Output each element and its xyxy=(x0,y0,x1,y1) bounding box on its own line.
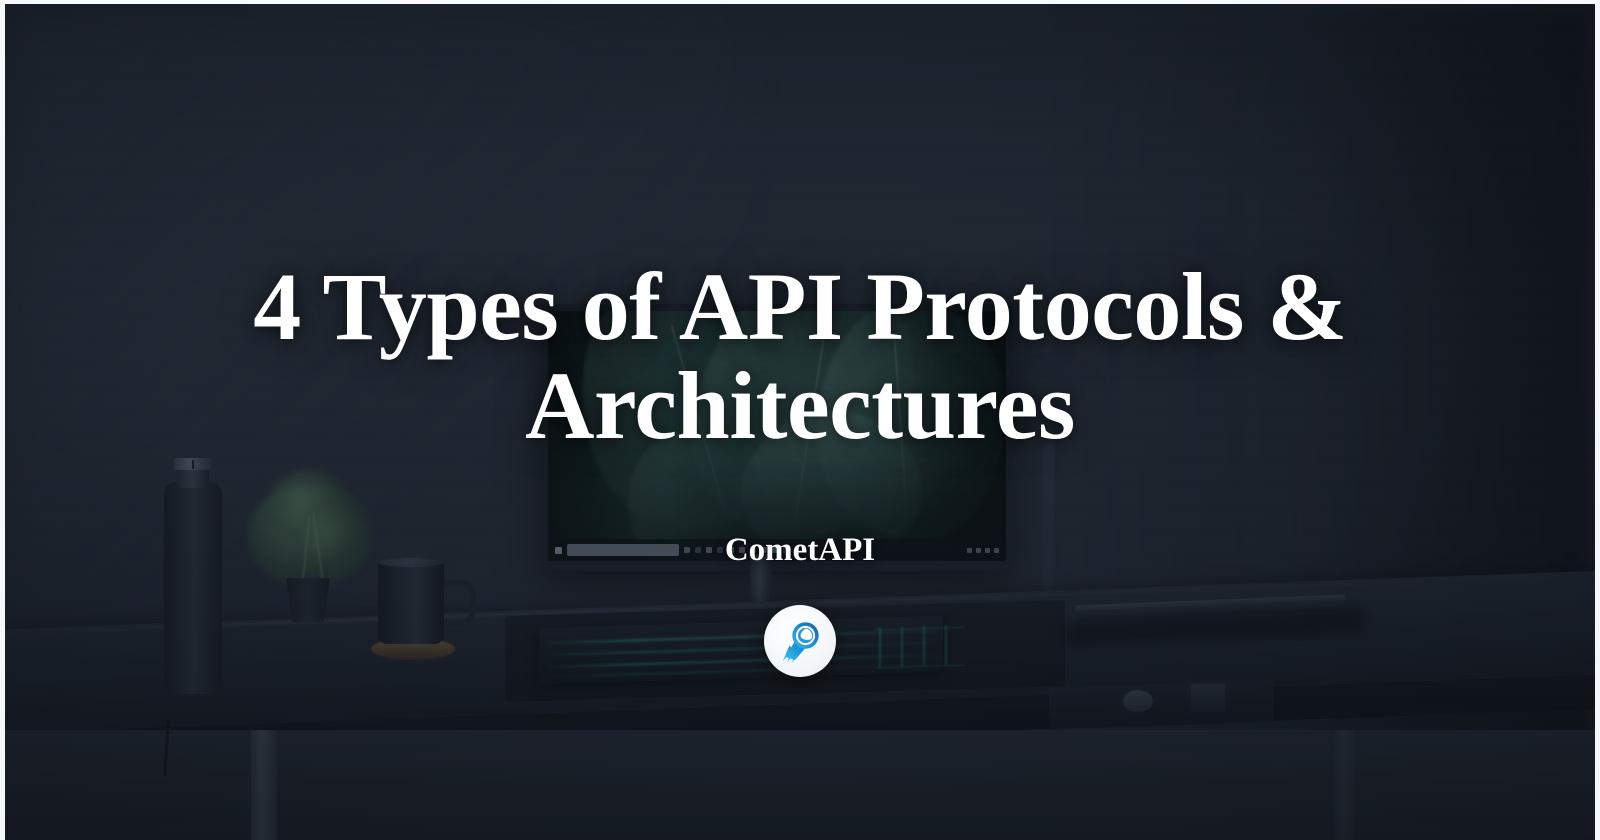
water-bottle xyxy=(164,482,222,694)
floor xyxy=(5,730,1595,840)
tray-icon xyxy=(967,548,972,553)
desk-leg xyxy=(251,730,277,840)
tray-icon xyxy=(985,548,990,553)
numpad-column xyxy=(901,627,903,667)
coffee-mug-rim xyxy=(378,558,444,567)
numpad-column xyxy=(879,627,881,667)
tray-icon xyxy=(976,548,981,553)
brand-logo-badge xyxy=(764,605,836,677)
taskbar-app-icon xyxy=(684,547,690,553)
numpad xyxy=(873,624,969,671)
coffee-mug xyxy=(378,560,444,644)
numpad-column xyxy=(945,625,947,665)
comet-icon xyxy=(775,616,825,666)
taskbar-search-box xyxy=(567,544,679,556)
brand-byline: CometAPI xyxy=(725,534,875,567)
numpad-row xyxy=(875,627,965,631)
taskbar-clock xyxy=(994,548,999,553)
taskbar-app-icon xyxy=(717,547,723,553)
speaker xyxy=(1191,684,1225,712)
start-icon xyxy=(555,547,562,554)
mouse-pad xyxy=(1049,680,1273,730)
mouse xyxy=(1123,690,1153,712)
numpad-column xyxy=(923,626,925,666)
taskbar-app-icon xyxy=(706,547,712,553)
taskbar-tray xyxy=(967,548,999,553)
desk-leg xyxy=(1335,730,1355,840)
taskbar-app-icon xyxy=(695,547,701,553)
hero-banner: 4 Types of API Protocols & Architectures… xyxy=(0,0,1600,840)
page-title: 4 Types of API Protocols & Architectures xyxy=(140,258,1460,456)
numpad-row xyxy=(875,665,965,669)
water-bottle-cap-seam xyxy=(192,460,194,469)
